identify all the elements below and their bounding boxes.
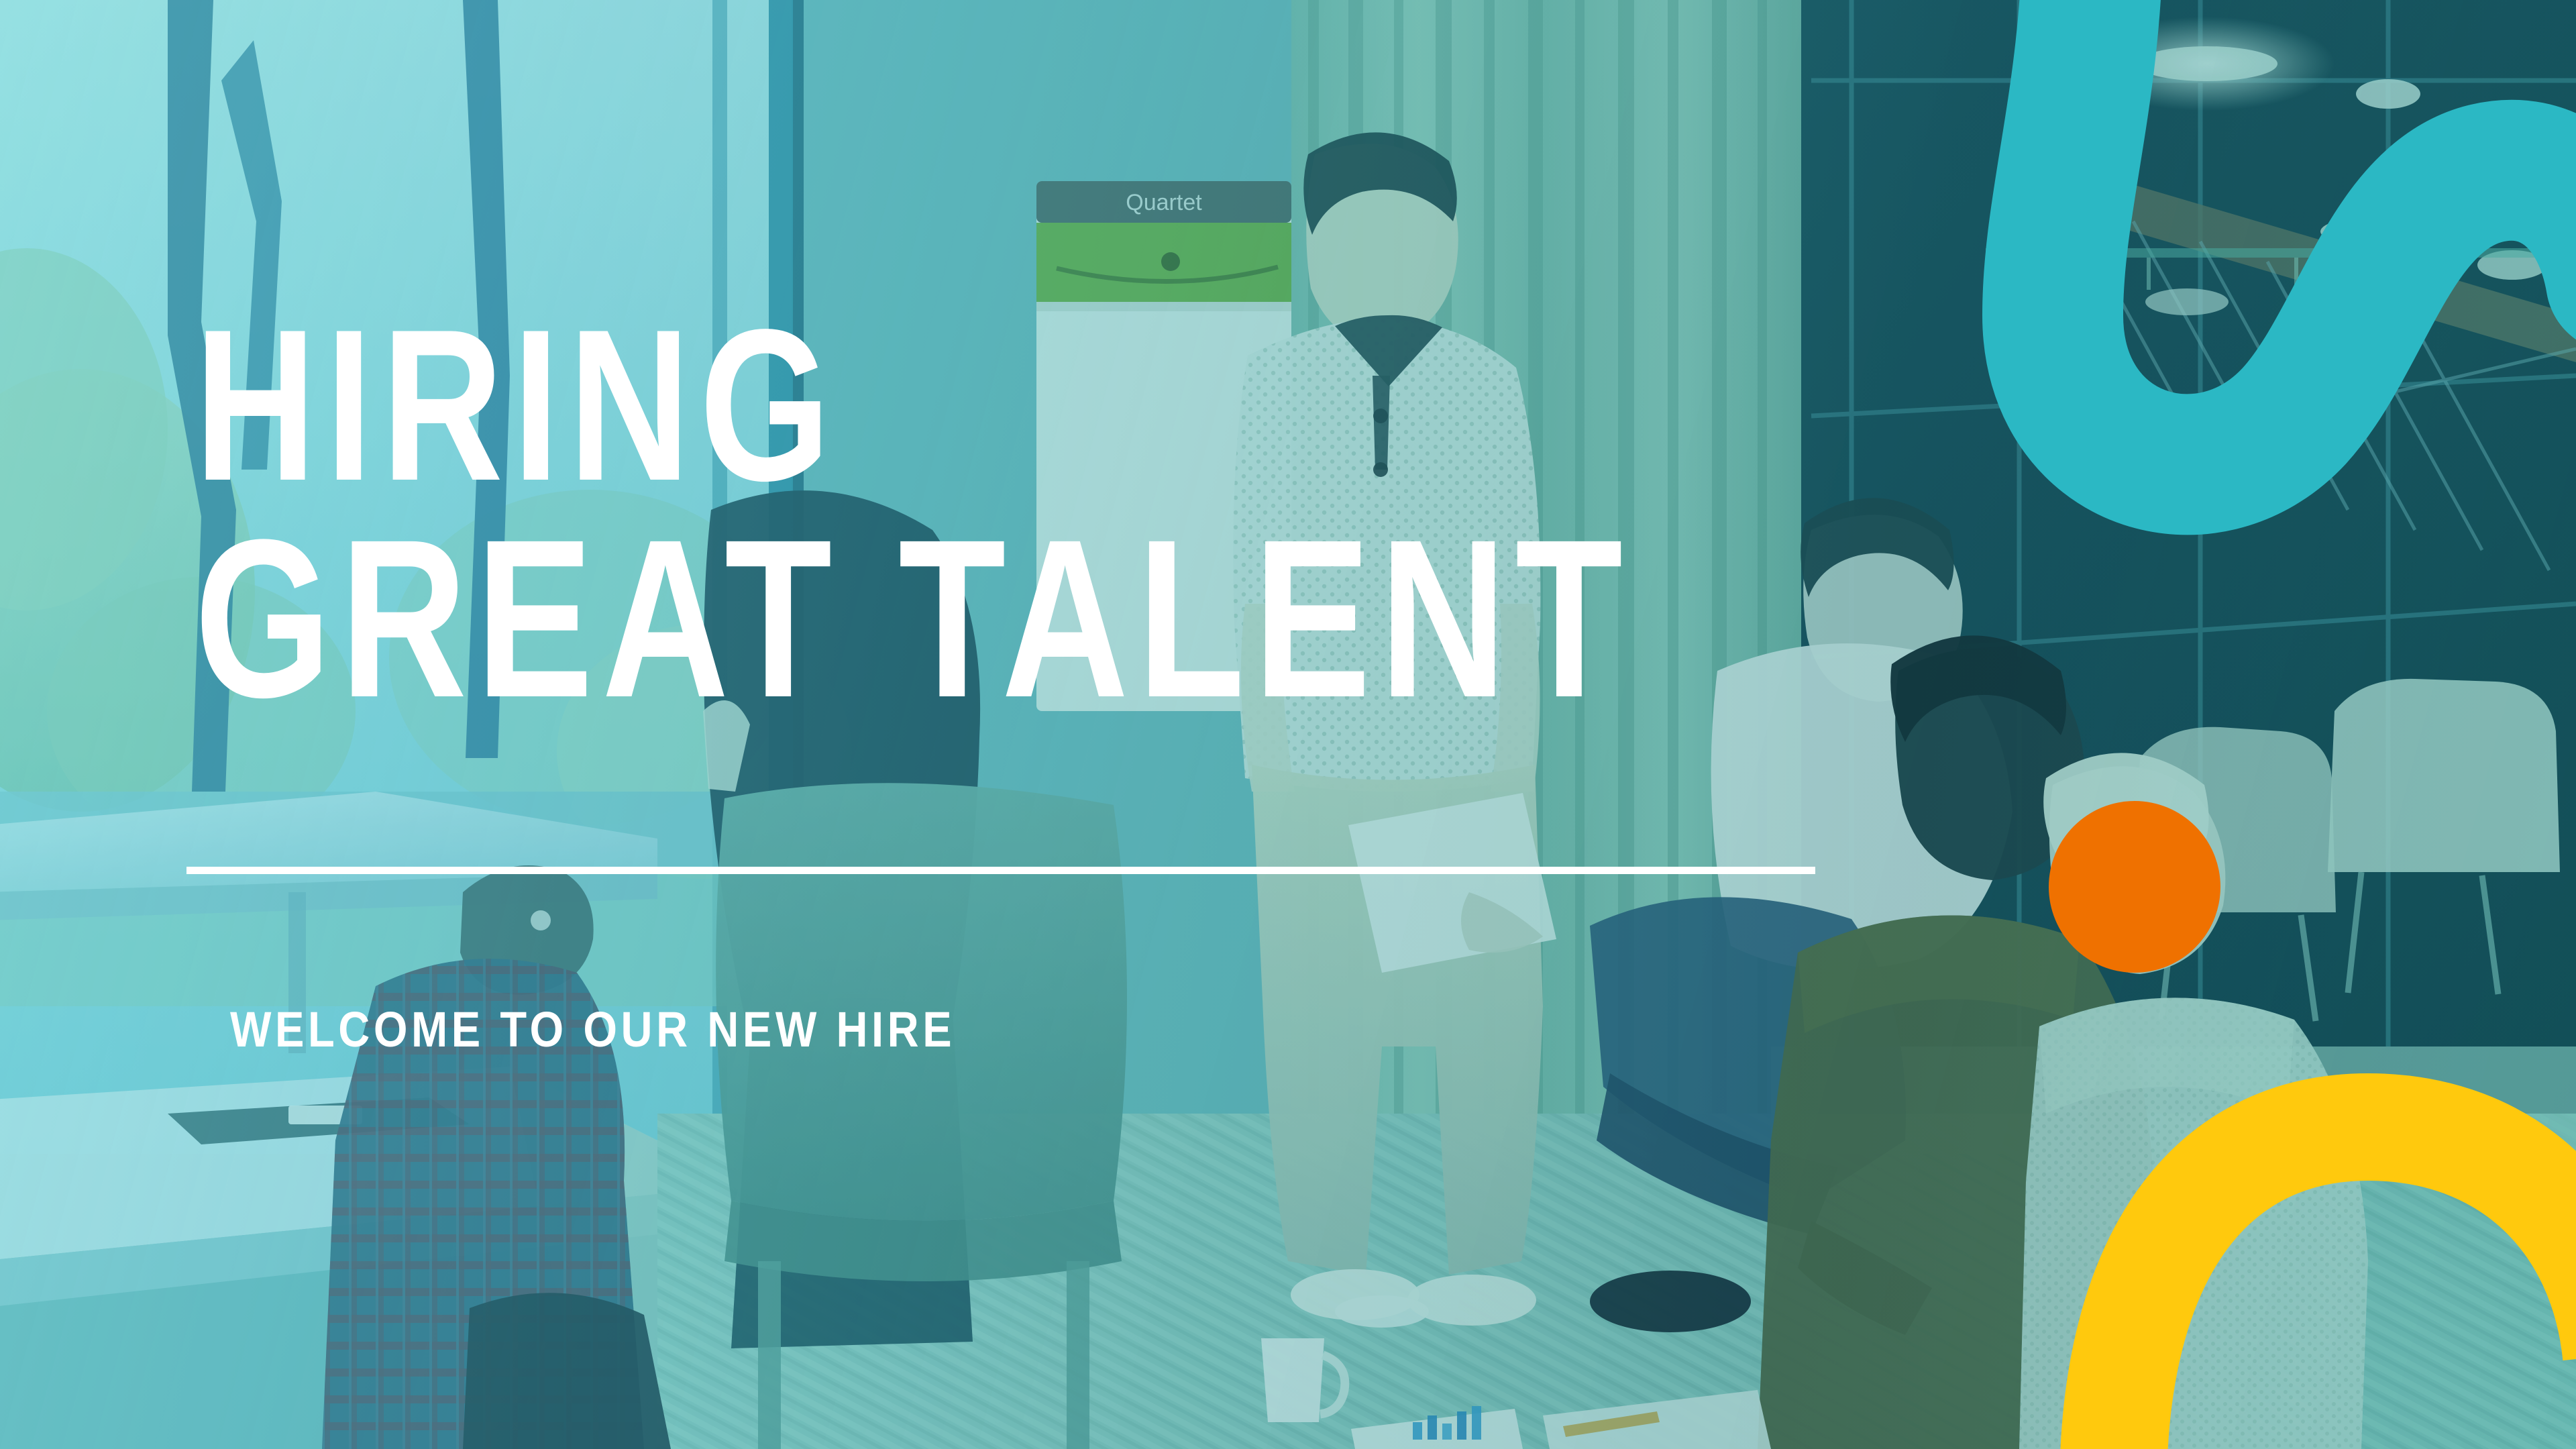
white-divider-rule bbox=[186, 867, 1815, 874]
hiring-poster: Quartet bbox=[0, 0, 2576, 1449]
headline-block: HIRING GREAT TALENT bbox=[195, 315, 1939, 714]
headline-line-1: HIRING bbox=[195, 315, 1555, 496]
headline-line-2: GREAT TALENT bbox=[195, 525, 1555, 714]
subtitle-text: WELCOME TO OUR NEW HIRE bbox=[230, 1001, 955, 1058]
svg-text:Quartet: Quartet bbox=[1126, 190, 1202, 215]
